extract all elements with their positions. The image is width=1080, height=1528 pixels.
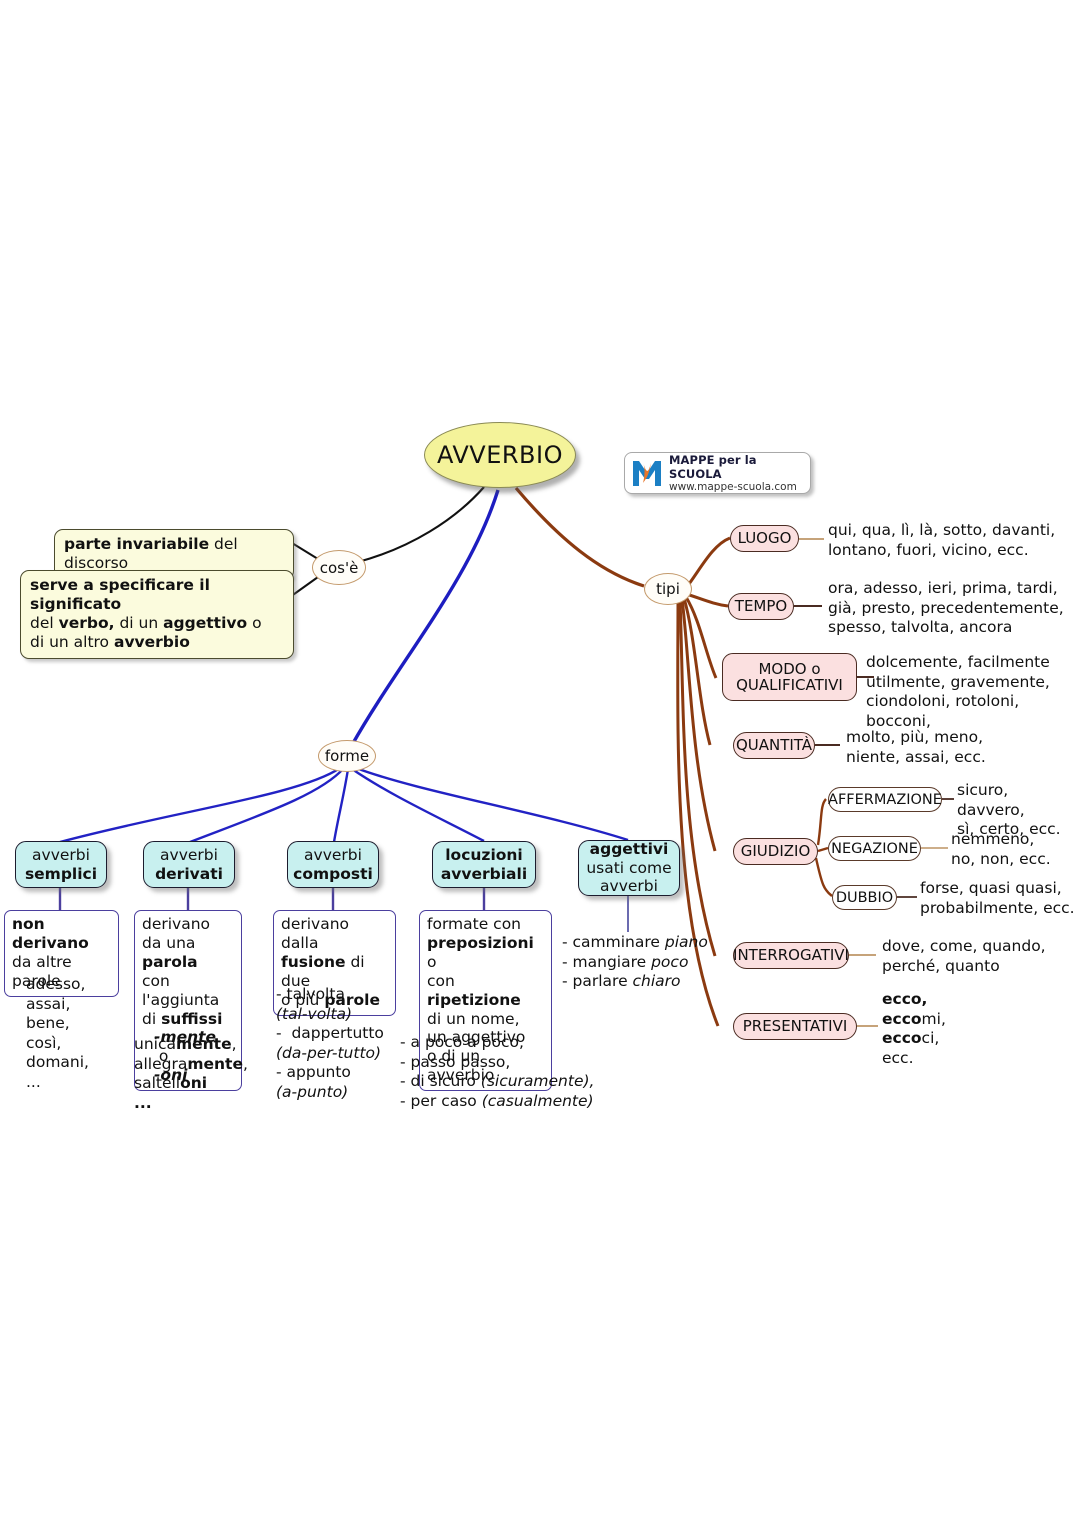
logo-badge[interactable]: MAPPE per la SCUOLA www.mappe-scuola.com [624, 452, 811, 494]
forme-semplici-line2: semplici [25, 865, 97, 884]
edge-forme-4 [352, 769, 484, 841]
branch-tipi-label[interactable]: tipi [644, 573, 692, 605]
forme-derivati-examples: unicamente, allegramente, saltelloni ... [134, 1035, 248, 1113]
forme-composti-line2: composti [293, 865, 373, 884]
tipo-giudizio-affermazione[interactable]: AFFERMAZIONE [828, 787, 942, 812]
edge-forme-3 [334, 769, 348, 842]
tipo-negazione-examples: nemmeno, no, non, ecc. [951, 830, 1051, 869]
cose-item-2: serve a specificare il significato del v… [20, 570, 294, 659]
forme-composti-examples: - talvolta (tal-volta) - dappertutto (da… [276, 985, 384, 1102]
mappe-logo-icon [630, 457, 664, 489]
logo-url: www.mappe-scuola.com [669, 481, 805, 493]
forme-semplici-line1: avverbi [32, 846, 90, 865]
tipo-tempo-examples: ora, adesso, ieri, prima, tardi, già, pr… [828, 579, 1064, 638]
root-node[interactable]: AVVERBIO [424, 422, 576, 488]
tipo-giudizio[interactable]: GIUDIZIO [733, 838, 818, 865]
edge-giudizio-affermazione [818, 799, 826, 845]
edge-tipi-quantita [684, 598, 710, 745]
forme-aggettivi-line2: usati come [586, 859, 671, 878]
edge-forme-2 [190, 768, 344, 842]
tipo-quantita[interactable]: QUANTITÀ [733, 732, 815, 759]
edge-tipi-giudizio [682, 599, 715, 851]
edge-cose-1 [292, 543, 318, 559]
edge-giudizio-negazione [818, 848, 828, 851]
forme-node-derivati[interactable]: avverbi derivati [143, 841, 235, 888]
forme-node-locuzioni[interactable]: locuzioni avverbiali [432, 841, 536, 888]
mindmap-canvas: AVVERBIO MAPPE per la SCUOLA www.mappe-s… [0, 0, 1080, 1528]
forme-node-composti[interactable]: avverbi composti [287, 841, 379, 888]
forme-aggettivi-examples: - camminare piano - mangiare poco - parl… [562, 933, 708, 992]
tipo-dubbio-examples: forse, quasi quasi, probabilmente, ecc. [920, 879, 1075, 918]
tipo-modo-examples: dolcemente, facilmente utilmente, gravem… [866, 653, 1080, 731]
forme-derivati-line2: derivati [155, 865, 223, 884]
edge-giudizio-dubbio [816, 858, 832, 896]
edge-root-cose [358, 487, 484, 562]
tipo-quantita-examples: molto, più, meno, niente, assai, ecc. [846, 728, 986, 767]
forme-locuzioni-examples: - a poco a poco, - passo passo, - di sic… [400, 1033, 594, 1111]
tipo-tempo[interactable]: TEMPO [728, 593, 794, 620]
tipo-presentativi[interactable]: PRESENTATIVI [733, 1013, 857, 1040]
edge-tipi-tempo [686, 594, 728, 606]
edge-root-forme [352, 490, 498, 745]
forme-locuzioni-line2: avverbiali [441, 865, 527, 884]
tipo-interrogativi-examples: dove, come, quando, perché, quanto [882, 937, 1046, 976]
forme-composti-line1: avverbi [304, 846, 362, 865]
tipo-presentativi-examples: ecco, eccomi, eccoci, ecc. [882, 990, 946, 1068]
branch-forme-label[interactable]: forme [318, 740, 376, 772]
tipo-luogo[interactable]: LUOGO [730, 525, 799, 552]
edge-tipi-luogo [686, 538, 730, 588]
tipo-modo[interactable]: MODO o QUALIFICATIVI [722, 653, 857, 701]
edge-root-tipi [516, 488, 644, 586]
tipo-interrogativi[interactable]: INTERROGATIVI [733, 942, 849, 969]
tipo-luogo-examples: qui, qua, lì, là, sotto, davanti, lontan… [828, 521, 1055, 560]
tipo-giudizio-negazione[interactable]: NEGAZIONE [828, 836, 921, 861]
tipo-modo-line1: MODO o [758, 661, 820, 678]
branch-cose-label[interactable]: cos'è [312, 550, 366, 585]
forme-node-aggettivi[interactable]: aggettivi usati come avverbi [578, 840, 680, 896]
forme-aggettivi-line1: aggettivi [590, 840, 669, 859]
forme-semplici-examples: adesso,assai,bene,così,domani,... [26, 975, 89, 1092]
edge-tipi-interrogativi [680, 600, 715, 956]
edge-forme-5 [356, 768, 628, 840]
forme-derivati-line1: avverbi [160, 846, 218, 865]
tipo-giudizio-dubbio[interactable]: DUBBIO [832, 885, 897, 910]
forme-aggettivi-line3: avverbi [600, 877, 658, 896]
tipo-modo-line2: QUALIFICATIVI [736, 677, 843, 694]
edge-tipi-modo [686, 597, 716, 678]
forme-node-semplici[interactable]: avverbi semplici [15, 841, 107, 888]
edge-forme-1 [60, 768, 340, 842]
logo-title: MAPPE per la SCUOLA [669, 453, 805, 481]
edge-cose-2 [290, 577, 318, 597]
forme-locuzioni-line1: locuzioni [445, 846, 523, 865]
